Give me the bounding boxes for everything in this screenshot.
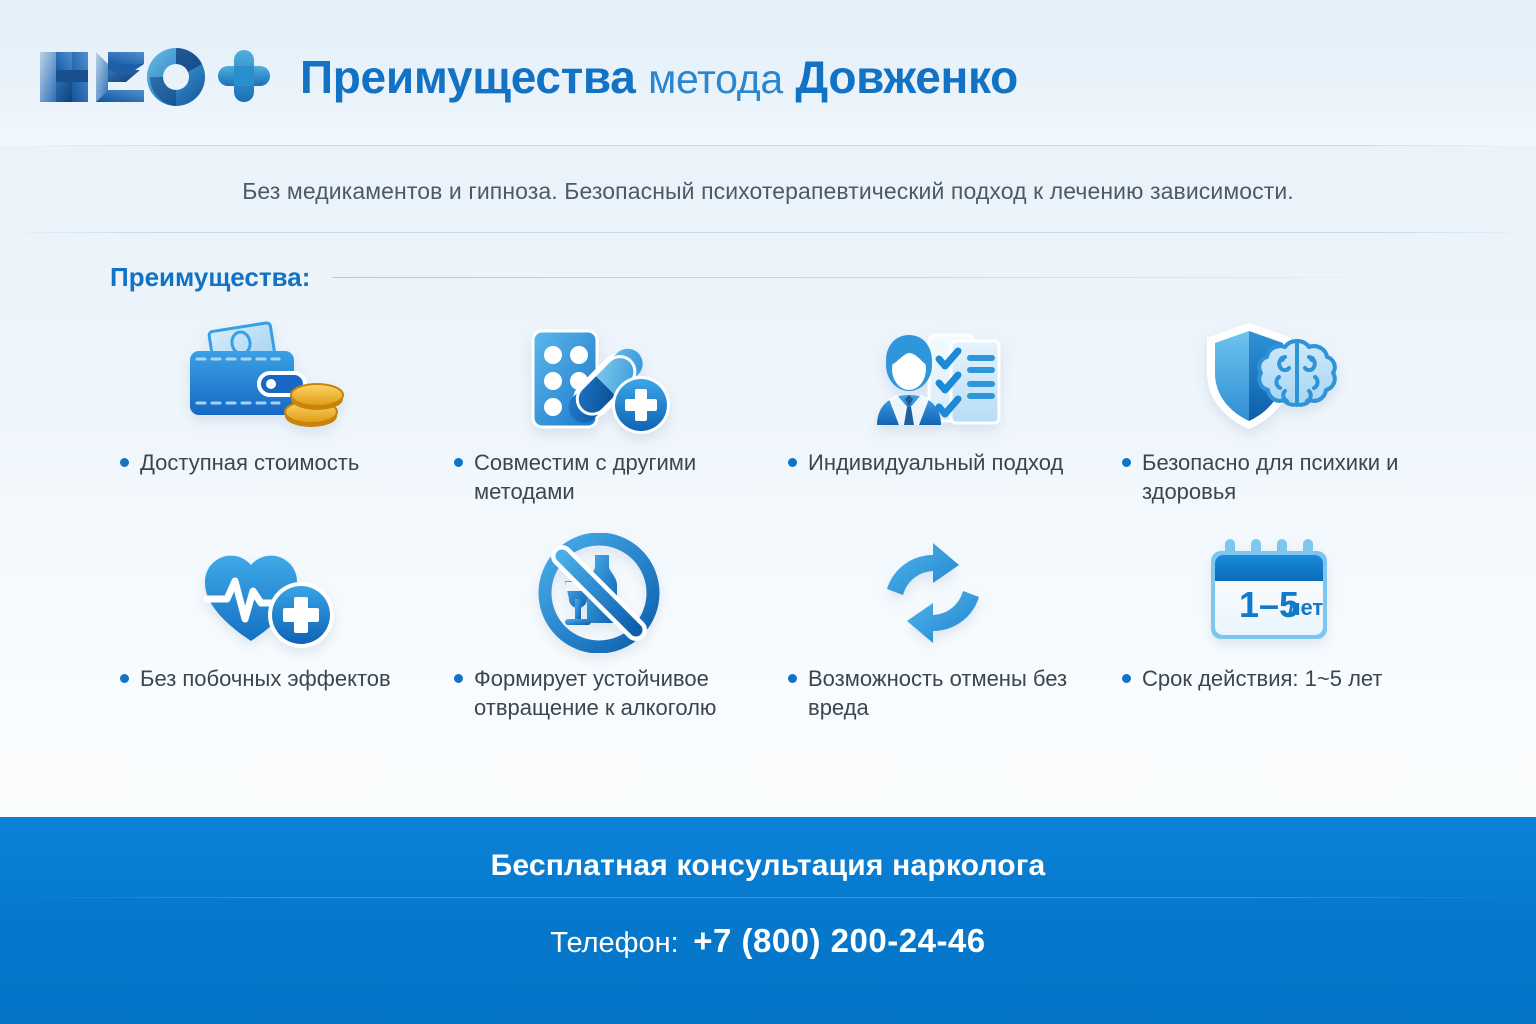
heart-pulse-plus-icon <box>100 528 434 658</box>
benefit-caption: Индивидуальный подход <box>768 448 1071 477</box>
benefit-caption: Доступная стоимость <box>100 448 367 477</box>
neo-plus-logo-icon <box>36 44 274 110</box>
calendar-years-icon: 1–5 лет <box>1102 528 1436 658</box>
benefit-caption: Формирует устойчивое отвращение к алкого… <box>434 664 744 722</box>
phone-label: Телефон: <box>550 927 678 959</box>
subtitle-text: Без медикаментов и гипноза. Безопасный п… <box>0 178 1536 205</box>
benefits-grid: Доступная стоимость <box>100 312 1436 744</box>
benefit-item: Совместим с другими методами <box>434 312 768 528</box>
title-part-strong-1: Преимущества <box>300 51 636 103</box>
title-part-light: метода <box>648 56 783 102</box>
benefit-label: Возможность отмены без вреда <box>808 664 1070 722</box>
shield-brain-icon <box>1102 312 1436 442</box>
benefit-item: 1–5 лет Срок действия: 1~5 лет <box>1102 528 1436 744</box>
benefits-section-header: Преимущества: <box>110 262 1430 293</box>
footer-phone-block: Телефон: +7 (800) 200-24-46 <box>0 922 1536 960</box>
footer-title: Бесплатная консультация нарколога <box>0 849 1536 883</box>
phone-number[interactable]: +7 (800) 200-24-46 <box>693 922 985 959</box>
benefit-item: Доступная стоимость <box>100 312 434 528</box>
benefit-label: Без побочных эффектов <box>140 664 391 693</box>
section-divider <box>332 277 1430 278</box>
bullet-icon <box>120 674 129 683</box>
benefit-caption: Возможность отмены без вреда <box>768 664 1078 722</box>
bullet-icon <box>454 458 463 467</box>
bullet-icon <box>1122 458 1131 467</box>
page-title: Преимущества метода Довженко <box>300 54 1018 100</box>
benefit-caption: Безопасно для психики и здоровья <box>1102 448 1412 506</box>
pills-plus-icon <box>434 312 768 442</box>
subtitle-divider <box>0 232 1536 233</box>
benefit-caption: Срок действия: 1~5 лет <box>1102 664 1391 693</box>
benefit-label: Совместим с другими методами <box>474 448 736 506</box>
reverse-arrows-icon <box>768 528 1102 658</box>
benefit-item: Безопасно для психики и здоровья <box>1102 312 1436 528</box>
bullet-icon <box>120 458 129 467</box>
footer-band: Бесплатная консультация нарколога Телефо… <box>0 817 1536 1024</box>
no-alcohol-icon <box>434 528 768 658</box>
benefit-item: Индивидуальный подход <box>768 312 1102 528</box>
title-part-strong-2: Довженко <box>795 51 1018 103</box>
wallet-coins-icon <box>100 312 434 442</box>
benefit-label: Индивидуальный подход <box>808 448 1063 477</box>
benefit-label: Формирует устойчивое отвращение к алкого… <box>474 664 736 722</box>
header-band: Преимущества метода Довженко <box>0 0 1536 146</box>
calendar-unit-text: лет <box>1287 595 1324 620</box>
bullet-icon <box>788 458 797 467</box>
footer-divider <box>0 897 1536 898</box>
benefit-item: Возможность отмены без вреда <box>768 528 1102 744</box>
header-content: Преимущества метода Довженко <box>36 44 1018 110</box>
benefit-label: Безопасно для психики и здоровья <box>1142 448 1404 506</box>
infographic-poster: Преимущества метода Довженко Без медикам… <box>0 0 1536 1024</box>
bullet-icon <box>788 674 797 683</box>
section-title: Преимущества: <box>110 262 310 293</box>
benefit-item: Формирует устойчивое отвращение к алкого… <box>434 528 768 744</box>
benefit-label: Срок действия: 1~5 лет <box>1142 664 1383 693</box>
benefit-caption: Без побочных эффектов <box>100 664 399 693</box>
bullet-icon <box>1122 674 1131 683</box>
bullet-icon <box>454 674 463 683</box>
benefit-label: Доступная стоимость <box>140 448 359 477</box>
benefit-item: Без побочных эффектов <box>100 528 434 744</box>
doctor-checklist-icon <box>768 312 1102 442</box>
benefit-caption: Совместим с другими методами <box>434 448 744 506</box>
